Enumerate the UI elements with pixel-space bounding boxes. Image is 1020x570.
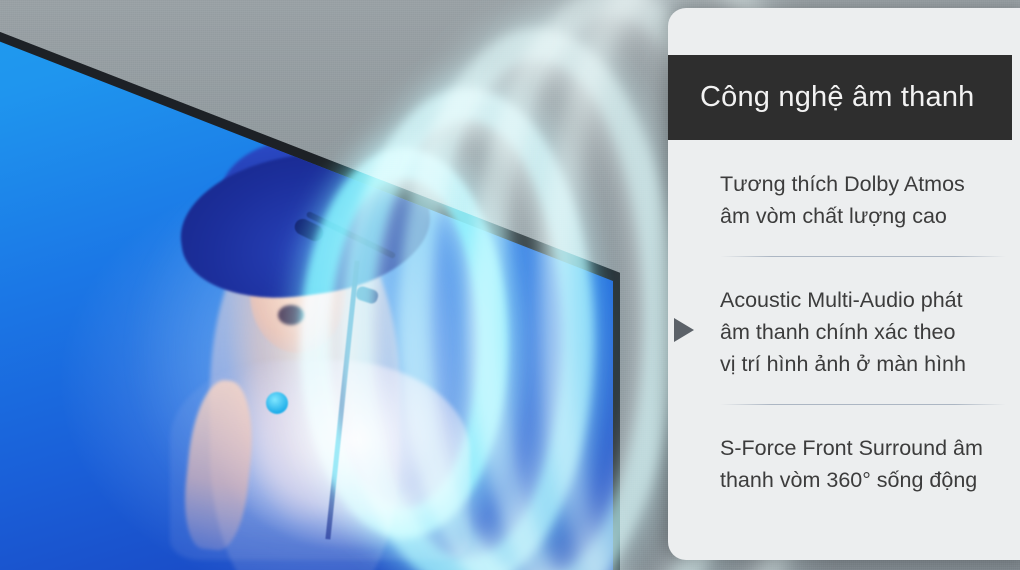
info-panel: Công nghệ âm thanh Tương thích Dolby Atm…	[668, 8, 1020, 560]
feature-list: Tương thích Dolby Atmos âm vòm chất lượn…	[668, 140, 1020, 560]
product-feature-banner: Công nghệ âm thanh Tương thích Dolby Atm…	[0, 0, 1020, 570]
feature-item-dolby-atmos: Tương thích Dolby Atmos âm vòm chất lượn…	[720, 140, 1014, 256]
feature-item-acoustic-multi-audio: Acoustic Multi-Audio phát âm thanh chính…	[720, 256, 1014, 404]
play-triangle-icon	[674, 318, 694, 342]
panel-title: Công nghệ âm thanh	[668, 81, 974, 114]
singer-necklace	[266, 392, 288, 414]
panel-header: Công nghệ âm thanh	[668, 55, 1012, 140]
feature-item-s-force-front-surround: S-Force Front Surround âm thanh vòm 360°…	[720, 404, 1014, 520]
feature-item-text: S-Force Front Surround âm thanh vòm 360°…	[720, 432, 1014, 496]
feature-item-text: Tương thích Dolby Atmos âm vòm chất lượn…	[720, 168, 1014, 232]
singer-mouth	[278, 305, 304, 325]
feature-item-text: Acoustic Multi-Audio phát âm thanh chính…	[720, 284, 1014, 380]
